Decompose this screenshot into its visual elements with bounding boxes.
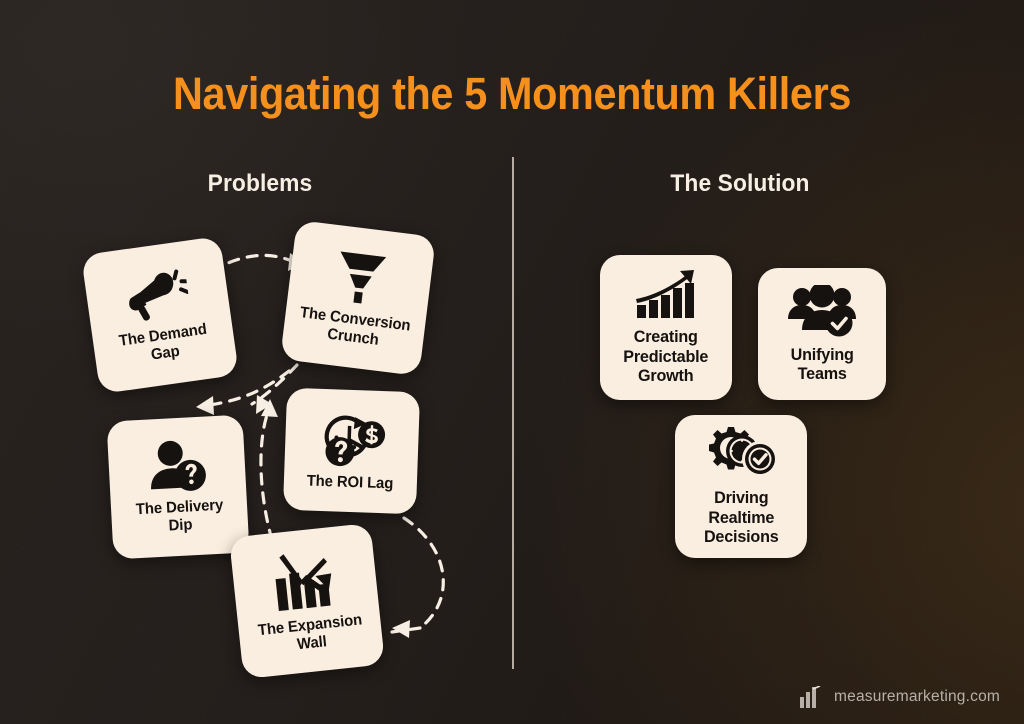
funnel-icon [329, 247, 393, 308]
problem-card-label: The ROI Lag [307, 472, 394, 493]
clock-dollar-question-icon [315, 409, 389, 467]
problem-card-conversion-crunch[interactable]: The Conversion Crunch [280, 220, 436, 376]
solution-card-unifying-teams[interactable]: Unifying Teams [758, 268, 886, 400]
problem-card-demand-gap[interactable]: The Demand Gap [81, 236, 239, 394]
problem-card-label: The Conversion Crunch [297, 304, 412, 353]
connector-roilag-to-expansion [392, 518, 443, 638]
solution-card-driving-realtime-decisions[interactable]: Driving Realtime Decisions [675, 415, 807, 558]
declining-bar-chart-icon [267, 546, 343, 613]
connector-delivery-to-roilag [261, 399, 278, 540]
person-question-icon [147, 438, 208, 493]
problems-column-heading: Problems [194, 170, 327, 198]
problem-card-roi-lag[interactable]: The ROI Lag [283, 388, 420, 515]
team-check-icon [787, 285, 857, 337]
solution-card-label: Unifying Teams [790, 345, 853, 384]
problem-card-label: The Demand Gap [118, 321, 210, 368]
solution-card-label: Creating Predictable Growth [624, 327, 709, 385]
page-title: Navigating the 5 Momentum Killers [41, 68, 983, 120]
footer-logo[interactable]: measuremarketing.com [799, 686, 1000, 708]
problem-card-label: The Expansion Wall [257, 611, 365, 657]
problem-card-expansion-wall[interactable]: The Expansion Wall [229, 523, 385, 679]
column-divider [512, 157, 514, 669]
solution-column-heading: The Solution [655, 170, 826, 198]
footer-wordmark: measuremarketing.com [834, 688, 1000, 706]
infographic-canvas: Navigating the 5 Momentum Killers Proble… [0, 0, 1024, 724]
solution-card-creating-predictable-growth[interactable]: Creating Predictable Growth [600, 255, 732, 400]
problem-card-delivery-dip[interactable]: The Delivery Dip [106, 415, 249, 560]
growth-chart-arrow-icon [633, 269, 699, 319]
bar-chart-logo-icon [799, 686, 825, 708]
solution-card-label: Driving Realtime Decisions [704, 488, 779, 546]
gear-clock-check-icon [706, 426, 776, 480]
megaphone-icon [123, 264, 192, 324]
problem-card-label: The Delivery Dip [135, 497, 224, 537]
